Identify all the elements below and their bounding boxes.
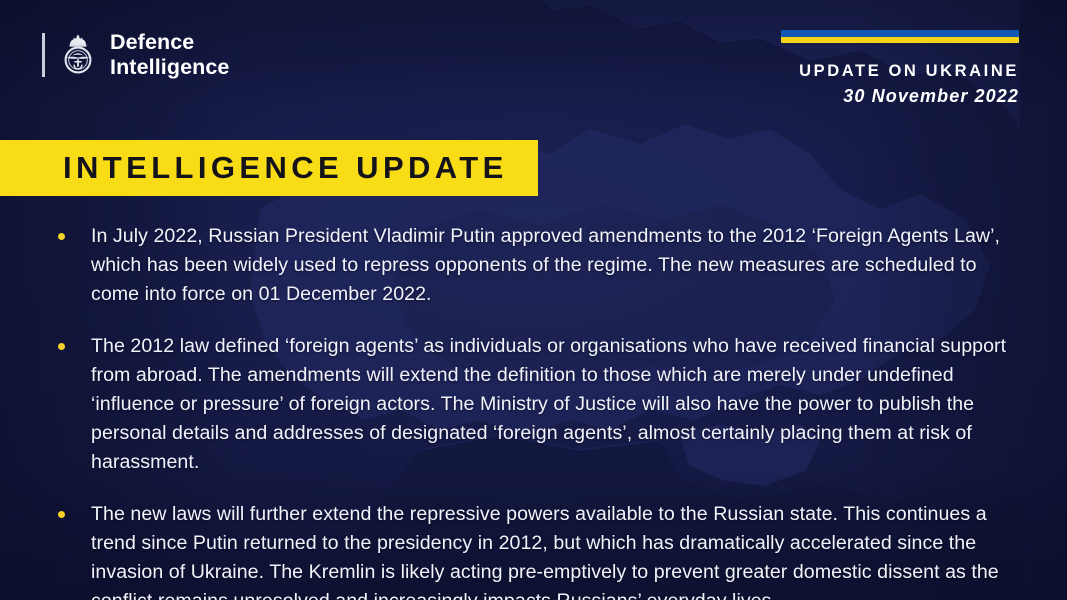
mod-crown-crest-icon: [58, 33, 98, 77]
bullet-text: The new laws will further extend the rep…: [91, 500, 1019, 600]
brand-line-2: Intelligence: [110, 55, 229, 80]
list-item: The new laws will further extend the rep…: [52, 500, 1019, 600]
bullet-dot-icon: [58, 233, 65, 240]
bullet-dot-icon: [58, 511, 65, 518]
update-block: UPDATE ON UKRAINE 30 November 2022: [781, 30, 1019, 107]
list-item: The 2012 law defined ‘foreign agents’ as…: [52, 332, 1019, 476]
ukraine-flag-bar-icon: [781, 30, 1019, 43]
brand-lockup: Defence Intelligence: [42, 30, 229, 81]
intelligence-update-banner: INTELLIGENCE UPDATE: [0, 140, 538, 196]
brand-divider-rule: [42, 33, 45, 77]
update-date: 30 November 2022: [781, 86, 1019, 108]
bullet-text: In July 2022, Russian President Vladimir…: [91, 222, 1019, 308]
bullet-text: The 2012 law defined ‘foreign agents’ as…: [91, 332, 1019, 476]
intelligence-update-slide: Defence Intelligence UPDATE ON UKRAINE 3…: [0, 0, 1067, 600]
brand-line-1: Defence: [110, 30, 229, 55]
bullet-dot-icon: [58, 343, 65, 350]
banner-label: INTELLIGENCE UPDATE: [0, 150, 508, 186]
update-title: UPDATE ON UKRAINE: [781, 61, 1019, 82]
bullet-list: In July 2022, Russian President Vladimir…: [52, 222, 1019, 600]
brand-name: Defence Intelligence: [110, 30, 229, 81]
list-item: In July 2022, Russian President Vladimir…: [52, 222, 1019, 308]
flag-stripe-yellow: [781, 37, 1019, 44]
